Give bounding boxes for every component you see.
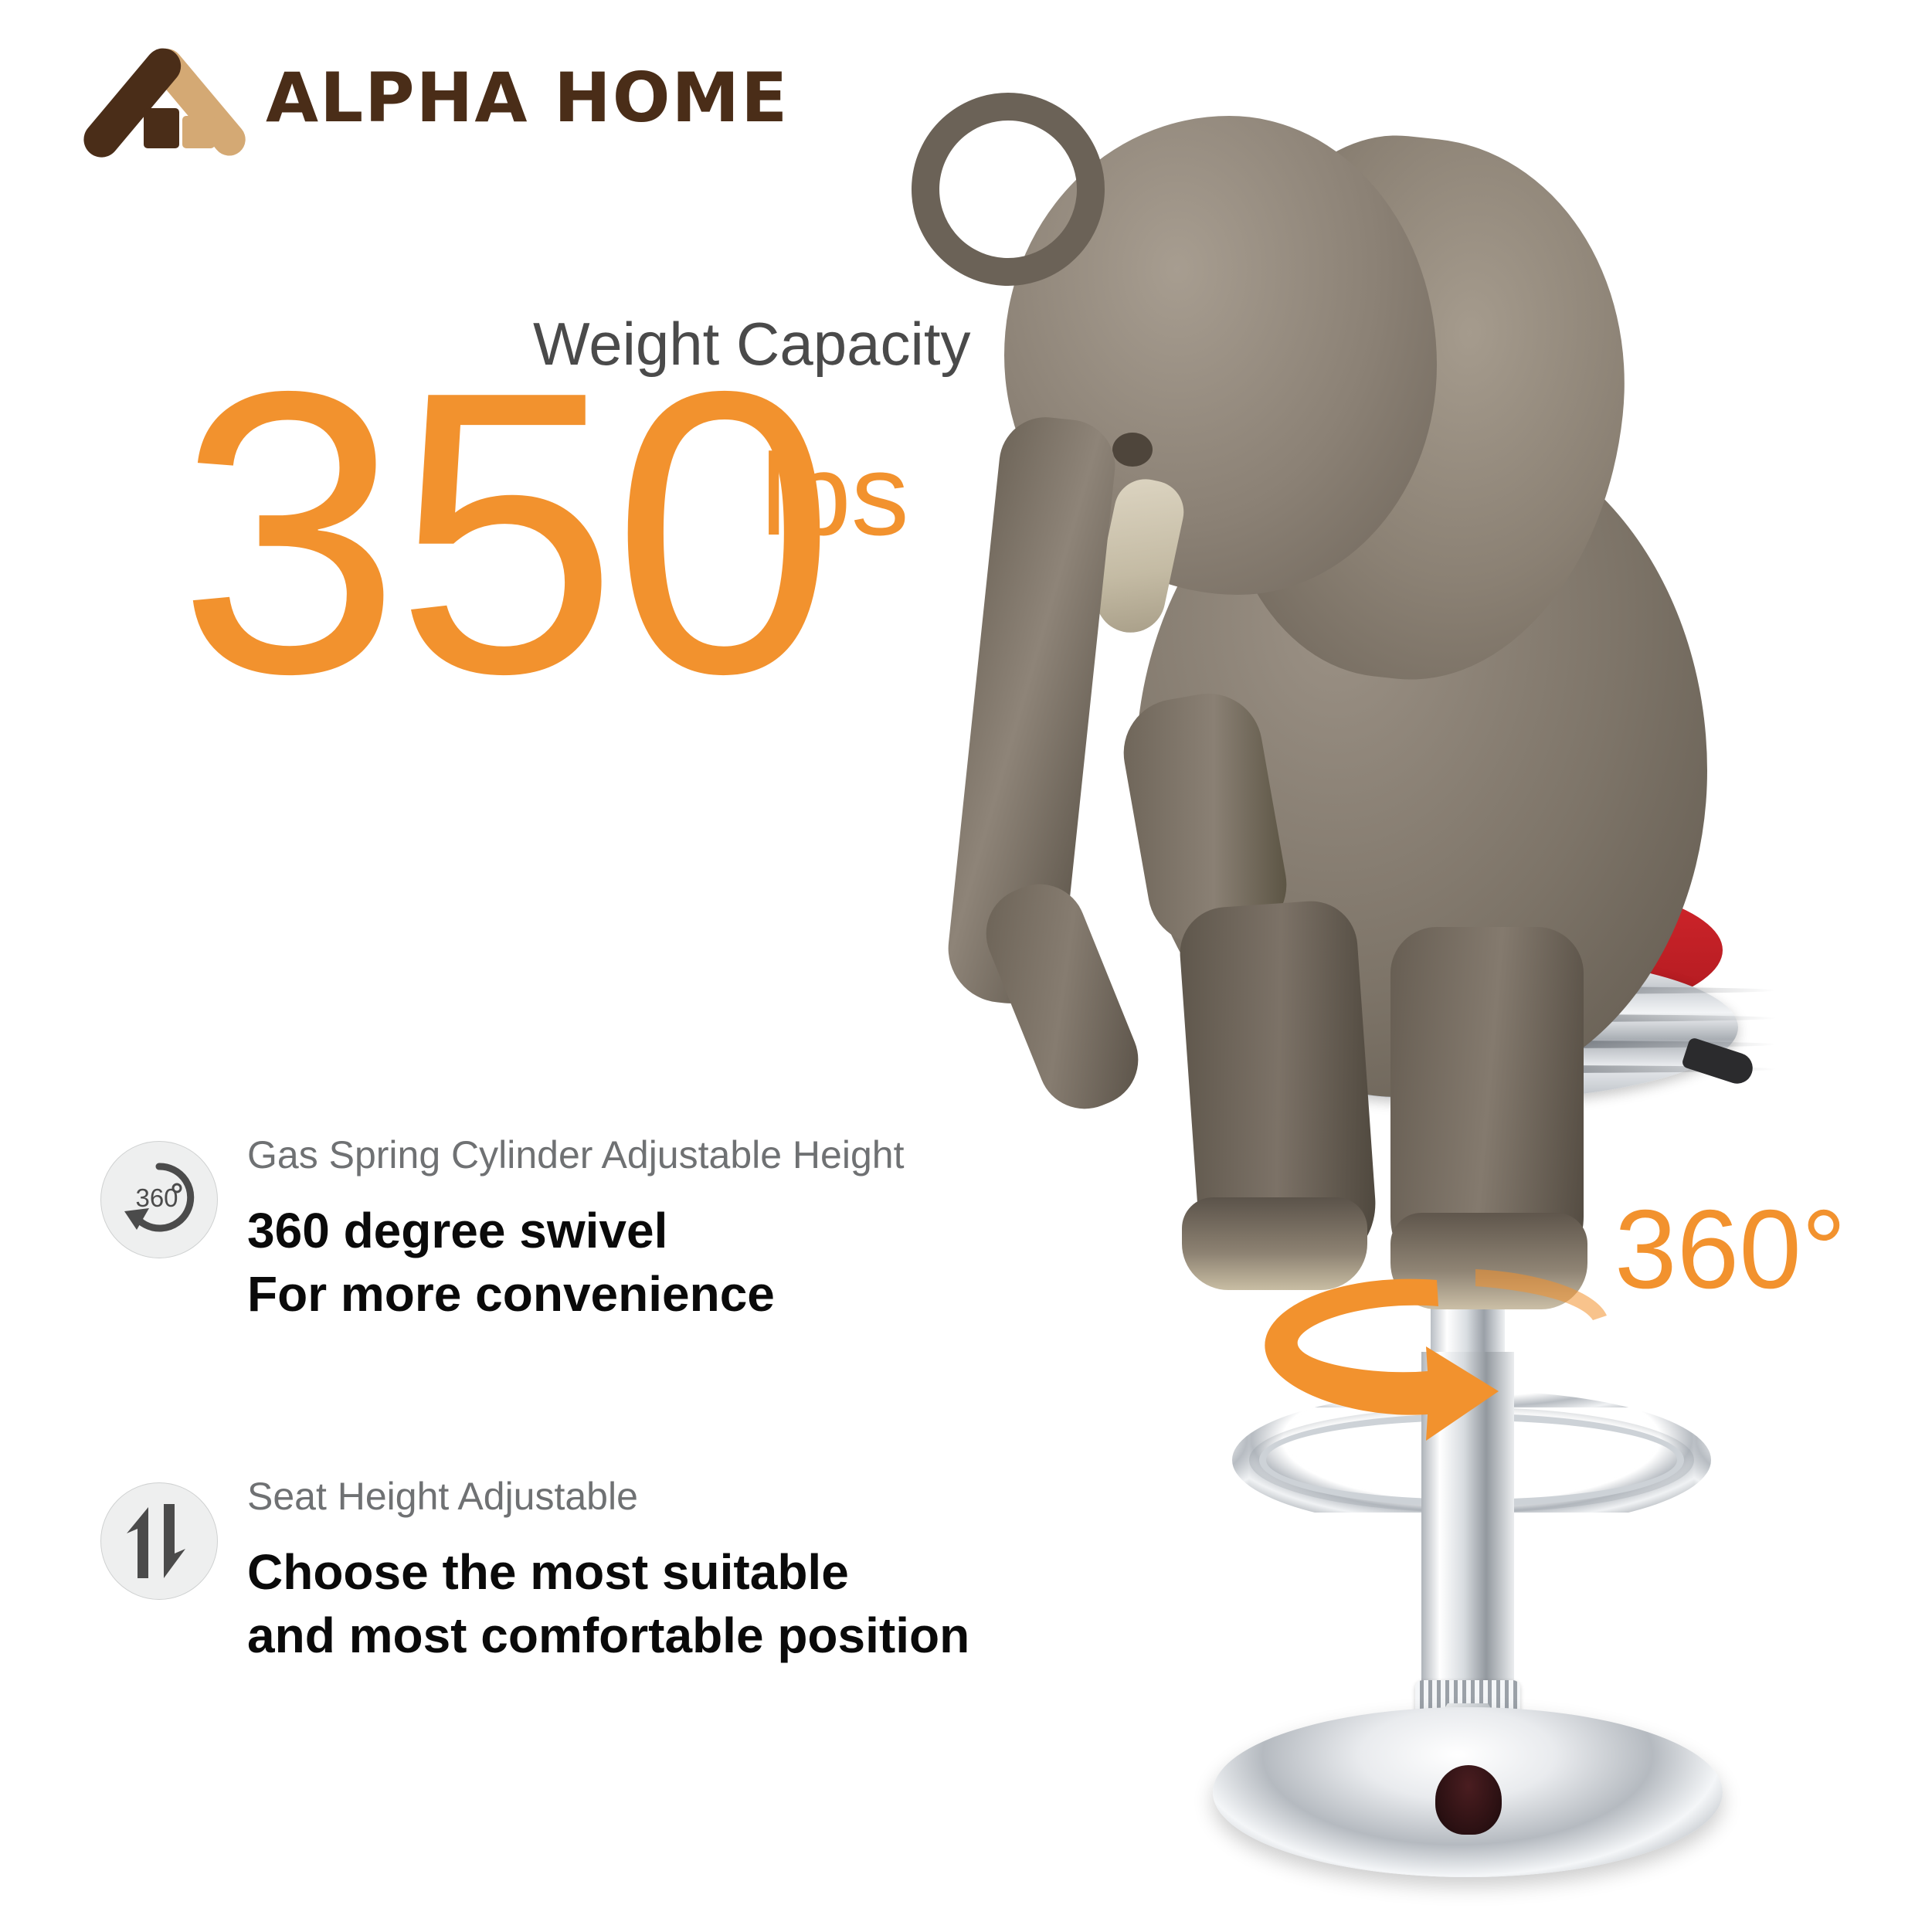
product-infographic: ALPHA HOME Weight Capacity 350 lbs (0, 0, 1932, 1932)
feature-line: and most comfortable position (247, 1604, 969, 1668)
brand-logo: ALPHA HOME (108, 48, 789, 148)
house-logo-icon (108, 48, 239, 148)
rotation-arrow-icon (1244, 1255, 1607, 1456)
elephant-eye (1112, 433, 1153, 467)
feature-line: For more convenience (247, 1263, 904, 1326)
feature-line: Choose the most suitable (247, 1541, 969, 1604)
elephant-mascot (912, 93, 1823, 1290)
stool-base-reflection (1435, 1765, 1502, 1835)
swivel-360-callout: 360° (1615, 1193, 1846, 1306)
swivel-360-value: 360 (1615, 1187, 1801, 1312)
feature-line: 360 degree swivel (247, 1200, 904, 1263)
logo-square-dark (144, 108, 179, 148)
feature-kicker: Seat Height Adjustable (247, 1473, 969, 1519)
360-rotation-icon: 360 (100, 1141, 218, 1258)
weight-capacity-value: 350 (178, 332, 830, 734)
brand-name: ALPHA HOME (266, 64, 789, 132)
feature-kicker: Gas Spring Cylinder Adjustable Height (247, 1132, 904, 1178)
feature-item-height: Seat Height Adjustable Choose the most s… (100, 1465, 1066, 1668)
degree-symbol: ° (1801, 1187, 1846, 1312)
weight-capacity-unit: lbs (761, 436, 909, 552)
height-adjust-arrows-icon (100, 1482, 218, 1600)
logo-square-light (182, 116, 215, 148)
svg-text:360: 360 (135, 1183, 178, 1212)
